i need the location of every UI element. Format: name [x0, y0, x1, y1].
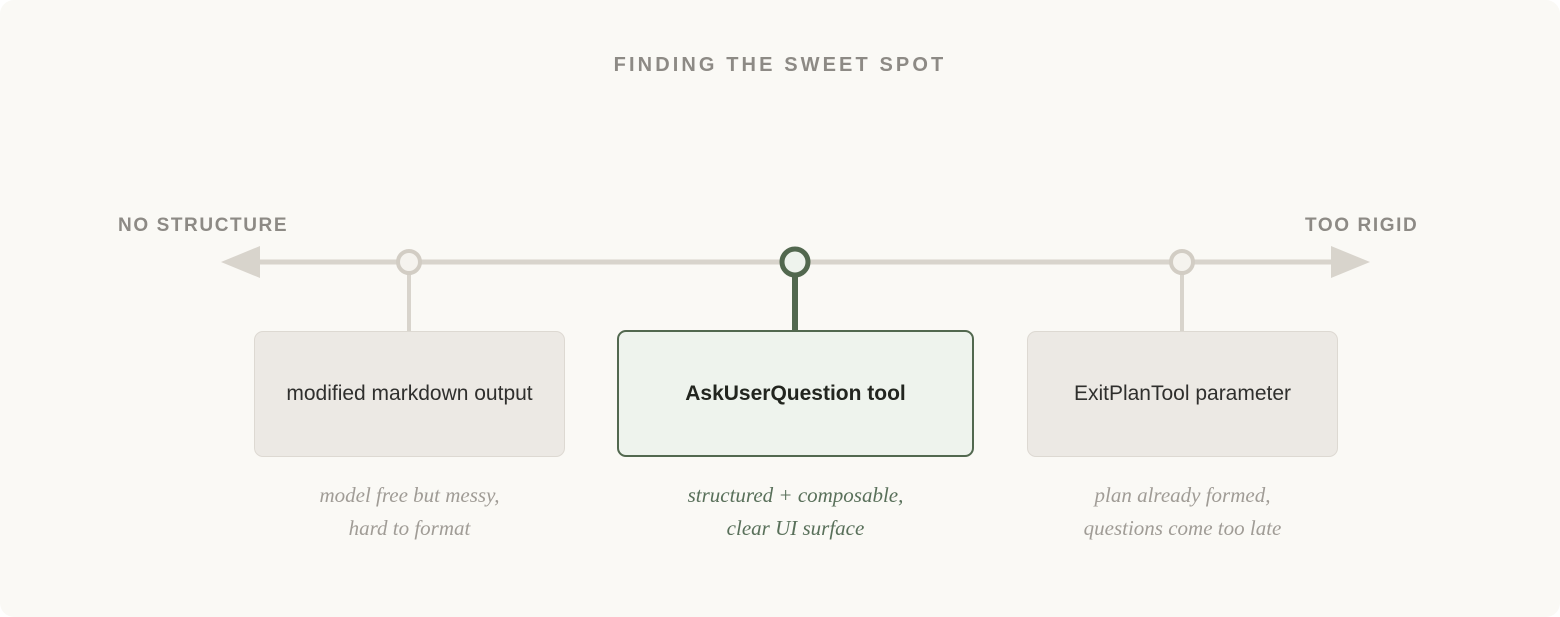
- axis-node-left[interactable]: [398, 251, 420, 273]
- diagram-canvas: FINDING THE SWEET SPOT NO STRUCTURE TOO …: [0, 0, 1560, 617]
- option-caption-right: plan already formed, questions come too …: [1027, 479, 1338, 545]
- axis-arrow-right-icon: [1331, 246, 1370, 278]
- axis-arrow-left-icon: [221, 246, 260, 278]
- axis-label-too-rigid: TOO RIGID: [1305, 215, 1418, 237]
- axis-node-center[interactable]: [782, 249, 808, 275]
- option-box-modified-markdown[interactable]: modified markdown output: [254, 331, 565, 457]
- axis-node-right[interactable]: [1171, 251, 1193, 273]
- option-caption-left: model free but messy, hard to format: [254, 479, 565, 545]
- option-caption-center: structured + composable, clear UI surfac…: [617, 479, 974, 545]
- page-title: FINDING THE SWEET SPOT: [0, 54, 1560, 77]
- option-box-label: ExitPlanTool parameter: [1064, 380, 1301, 408]
- option-box-exitplantool[interactable]: ExitPlanTool parameter: [1027, 331, 1338, 457]
- option-box-label: modified markdown output: [276, 380, 542, 408]
- option-box-label: AskUserQuestion tool: [675, 380, 916, 408]
- axis-label-no-structure: NO STRUCTURE: [118, 215, 288, 237]
- option-box-askuserquestion[interactable]: AskUserQuestion tool: [617, 330, 974, 457]
